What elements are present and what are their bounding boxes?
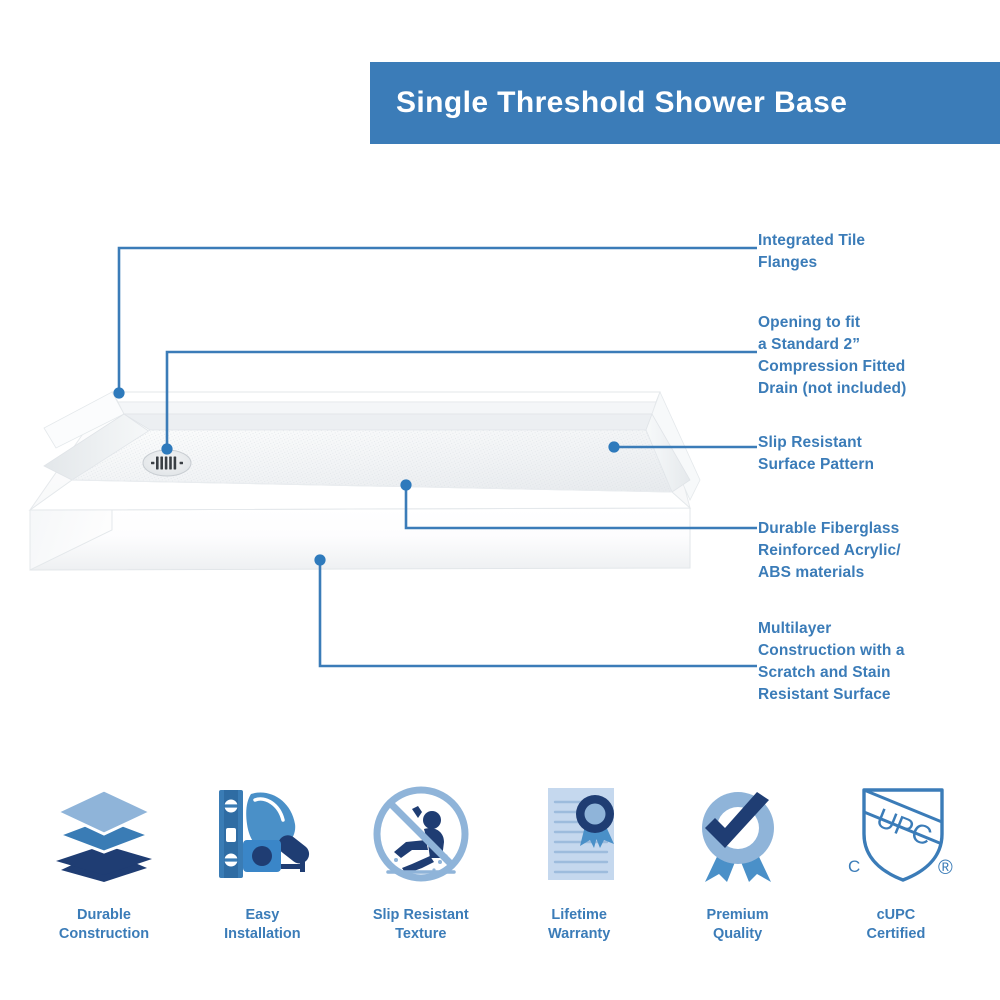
feature-lifetime-warranty: Lifetime Warranty — [501, 775, 657, 944]
feature-easy-installation: Easy Installation — [184, 775, 340, 944]
upc-mark-text: UPC — [872, 803, 936, 852]
upc-shield-icon: UPC C ® — [838, 775, 954, 893]
header-bar: Single Threshold Shower Base — [370, 62, 1000, 144]
callout-label-integrated-tile-flanges: Integrated Tile Flanges — [758, 230, 998, 274]
feature-label: Easy Installation — [224, 906, 301, 944]
feature-badge-strip: Durable Construction — [0, 775, 1000, 975]
leader-line-flanges — [119, 248, 757, 393]
page-title: Single Threshold Shower Base — [370, 86, 847, 120]
no-slip-icon — [366, 775, 476, 893]
basin-interior — [44, 414, 690, 492]
layers-icon — [49, 775, 159, 893]
feature-label: Lifetime Warranty — [548, 906, 610, 944]
leader-line-multilayer — [320, 560, 757, 666]
feature-label: Premium Quality — [707, 906, 769, 944]
feature-label: Slip Resistant Texture — [373, 906, 469, 944]
registered-mark-text: ® — [938, 857, 953, 879]
callout-label-durable-materials: Durable Fiberglass Reinforced Acrylic/ A… — [758, 518, 1000, 584]
feature-durable-construction: Durable Construction — [26, 775, 182, 944]
level-trowel-icon — [207, 775, 317, 893]
callout-label-multilayer-construction: Multilayer Construction with a Scratch a… — [758, 618, 1000, 706]
feature-premium-quality: Premium Quality — [660, 775, 816, 944]
feature-cupc-certified: UPC C ® cUPC Certified — [818, 775, 974, 944]
upc-prefix-text: C — [848, 857, 860, 876]
callout-label-drain-opening: Opening to fit a Standard 2” Compression… — [758, 312, 1000, 400]
check-ribbon-icon — [683, 775, 793, 893]
infographic-page: Single Threshold Shower Base — [0, 0, 1000, 1000]
callout-label-slip-resistant-surface: Slip Resistant Surface Pattern — [758, 432, 998, 476]
feature-label: cUPC Certified — [867, 906, 926, 944]
certificate-ribbon-icon — [524, 775, 634, 893]
feature-label: Durable Construction — [59, 906, 149, 944]
feature-slip-resistant-texture: Slip Resistant Texture — [343, 775, 499, 944]
